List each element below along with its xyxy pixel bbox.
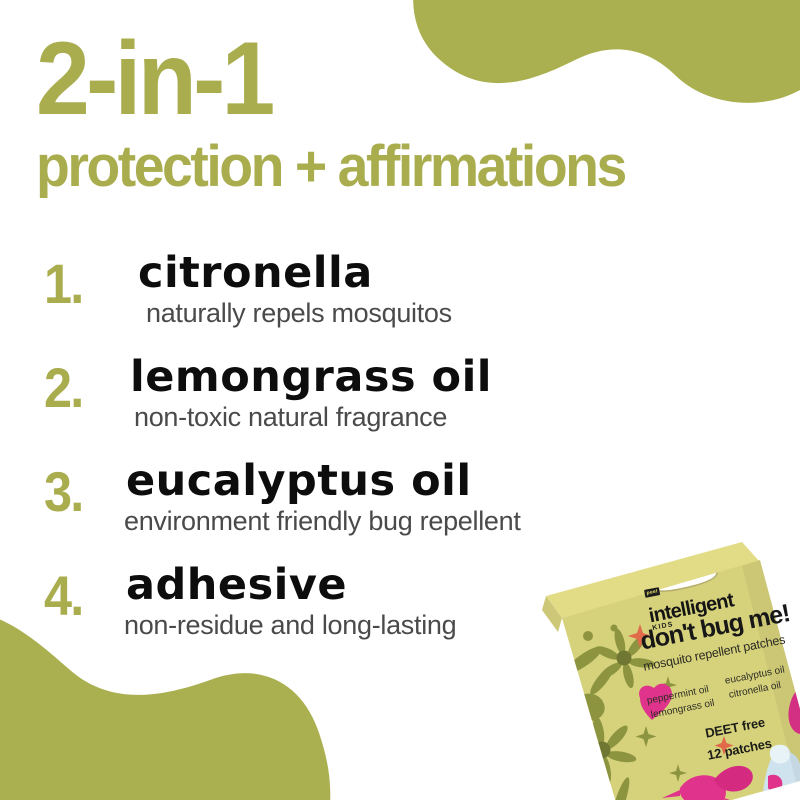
list-item-subtitle: environment friendly bug repellent — [124, 506, 700, 537]
list-item-title: eucalyptus oil — [126, 460, 700, 504]
headline-block: 2-in-1 protection + affirmations — [36, 34, 756, 196]
list-item: 2. lemongrass oil non-toxic natural frag… — [40, 356, 700, 452]
list-item-number: 3. — [44, 464, 82, 520]
headline-sub: protection + affirmations — [36, 138, 724, 196]
list-item-number: 1. — [44, 256, 82, 312]
list-item-subtitle: non-toxic natural fragrance — [134, 402, 700, 433]
list-item-title: citronella — [138, 252, 700, 296]
headline-main: 2-in-1 — [36, 34, 706, 126]
list-item-number: 2. — [44, 360, 82, 416]
product-package: peel intelligent KIDS don't bug me! mosq… — [528, 540, 800, 800]
list-item-number: 4. — [44, 568, 82, 624]
infographic-page: 2-in-1 protection + affirmations 1. citr… — [0, 0, 800, 800]
list-item-title: lemongrass oil — [130, 356, 700, 400]
package-teal-sparkle — [790, 636, 800, 660]
list-item: 1. citronella naturally repels mosquitos — [40, 252, 700, 348]
list-item-subtitle: naturally repels mosquitos — [146, 298, 700, 329]
